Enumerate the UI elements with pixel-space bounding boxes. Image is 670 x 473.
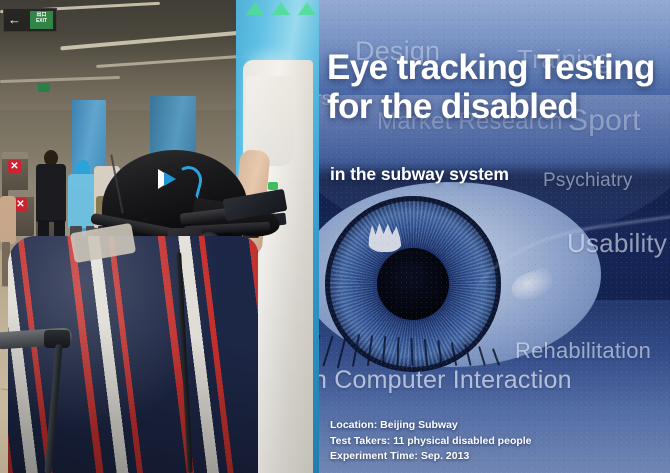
shirt-shading (8, 236, 258, 473)
title-panel: DesignTrainingrsMarket ResearchSportPsyc… (319, 0, 670, 473)
caption-test-takers: Test Takers: 11 physical disabled people (330, 434, 532, 450)
exit-sign-green-panel: 出口 EXIT (30, 11, 53, 29)
eyetracker-status-led (268, 182, 278, 190)
pillar-graphic (298, 2, 316, 15)
exit-sign: ← 出口 EXIT (3, 8, 57, 32)
word-cloud-item: Usability (567, 228, 667, 259)
cap-logo-icon (156, 166, 186, 192)
eye-pupil (377, 248, 449, 320)
pillar-graphic (272, 2, 290, 15)
title-line-1: Eye tracking Testing (327, 48, 670, 87)
word-cloud-item: n Computer Interaction (319, 366, 572, 395)
pillar-graphic (246, 2, 264, 15)
poster-root: ← 出口 EXIT ✕ ✕ ✕ (0, 0, 670, 473)
experiment-caption: Location: Beijing Subway Test Takers: 11… (330, 418, 532, 465)
caption-experiment-time: Experiment Time: Sep. 2013 (330, 449, 532, 465)
station-green-sign (38, 83, 50, 92)
word-cloud-item: Rehabilitation (515, 338, 651, 364)
page-title: Eye tracking Testing for the disabled (327, 48, 670, 126)
caption-location: Location: Beijing Subway (330, 418, 532, 434)
subject-plaid-shirt (8, 236, 258, 473)
page-subtitle: in the subway system (330, 164, 509, 185)
arrow-left-icon: ← (8, 13, 22, 27)
exit-sign-label: 出口 EXIT (30, 11, 53, 26)
word-cloud-item: Psychiatry (543, 170, 633, 192)
subject-photo: ← 出口 EXIT ✕ ✕ ✕ (0, 0, 319, 473)
turnstile-top (2, 152, 28, 159)
turnstile-x-icon: ✕ (8, 160, 21, 173)
title-line-2: for the disabled (327, 87, 670, 126)
